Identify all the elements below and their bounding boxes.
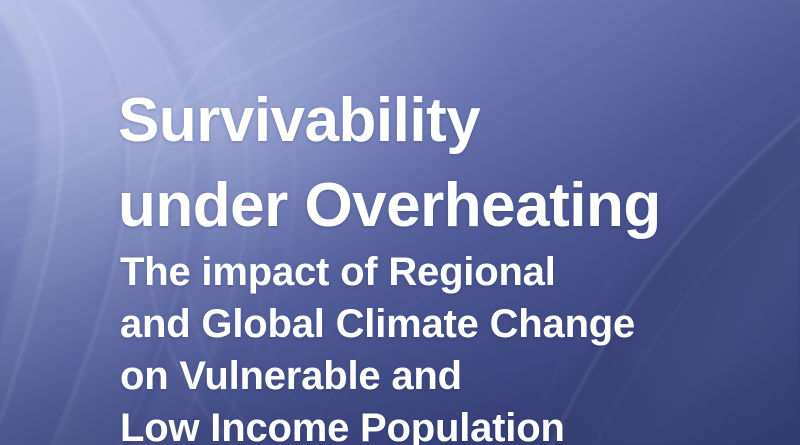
cover-subtitle-line-2: and Global Climate Change: [120, 304, 635, 344]
cover-subtitle-line-1: The impact of Regional: [120, 252, 556, 292]
cover-text-block: Survivability under Overheating The impa…: [118, 0, 800, 445]
cover-title-line-1: Survivability: [118, 90, 480, 152]
cover-subtitle-line-3: on Vulnerable and: [120, 356, 462, 396]
cover-page: Survivability under Overheating The impa…: [0, 0, 800, 445]
cover-title-line-2: under Overheating: [118, 175, 661, 237]
cover-subtitle-line-4: Low Income Population: [120, 408, 565, 445]
